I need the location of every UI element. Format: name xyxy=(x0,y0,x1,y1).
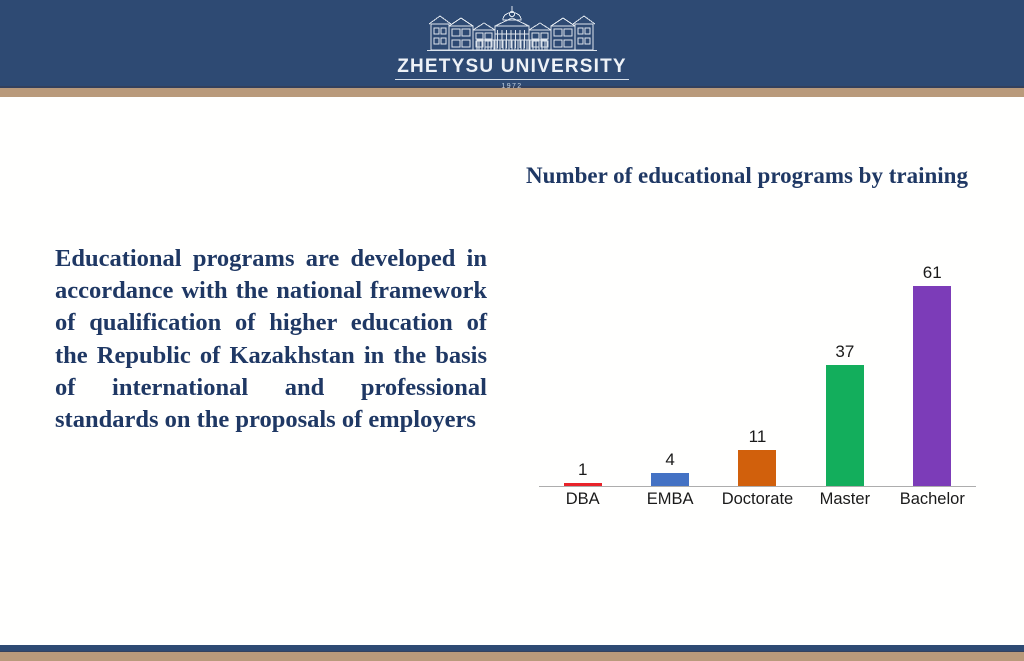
university-wordmark: ZHETYSU UNIVERSITY xyxy=(395,57,629,80)
category-label: DBA xyxy=(539,490,626,509)
university-logo: ZHETYSU UNIVERSITY 1972 xyxy=(0,4,1024,90)
bar-slot: 4 xyxy=(627,256,714,486)
chart-title: Number of educational programs by traini… xyxy=(522,160,972,191)
chart-plot-area: 1 4 11 37 61 xyxy=(539,255,976,487)
bar-slot: 11 xyxy=(714,256,801,486)
category-label: Doctorate xyxy=(714,490,801,509)
university-building-icon xyxy=(417,4,607,56)
chart-category-labels: DBA EMBA Doctorate Master Bachelor xyxy=(539,490,976,509)
bar-value-label: 1 xyxy=(578,460,587,479)
bar[interactable] xyxy=(738,450,776,486)
bar-value-label: 61 xyxy=(923,263,942,282)
chart-bars: 1 4 11 37 61 xyxy=(539,256,976,486)
bar[interactable] xyxy=(913,286,951,486)
bar[interactable] xyxy=(826,365,864,486)
bar-slot: 1 xyxy=(539,256,626,486)
bar[interactable] xyxy=(651,473,689,486)
bar-slot: 61 xyxy=(889,256,976,486)
category-label: Bachelor xyxy=(889,490,976,509)
university-founded-year: 1972 xyxy=(0,83,1024,90)
bar-value-label: 37 xyxy=(835,342,854,361)
chart-x-axis-line xyxy=(539,486,976,488)
bar-value-label: 11 xyxy=(749,427,767,446)
bar-chart: Number of educational programs by traini… xyxy=(512,150,982,540)
bar-slot: 37 xyxy=(801,256,888,486)
description-paragraph: Educational programs are developed in ac… xyxy=(55,243,487,436)
category-label: Master xyxy=(801,490,888,509)
bar-value-label: 4 xyxy=(665,450,674,469)
footer-accent-band xyxy=(0,652,1024,661)
category-label: EMBA xyxy=(627,490,714,509)
